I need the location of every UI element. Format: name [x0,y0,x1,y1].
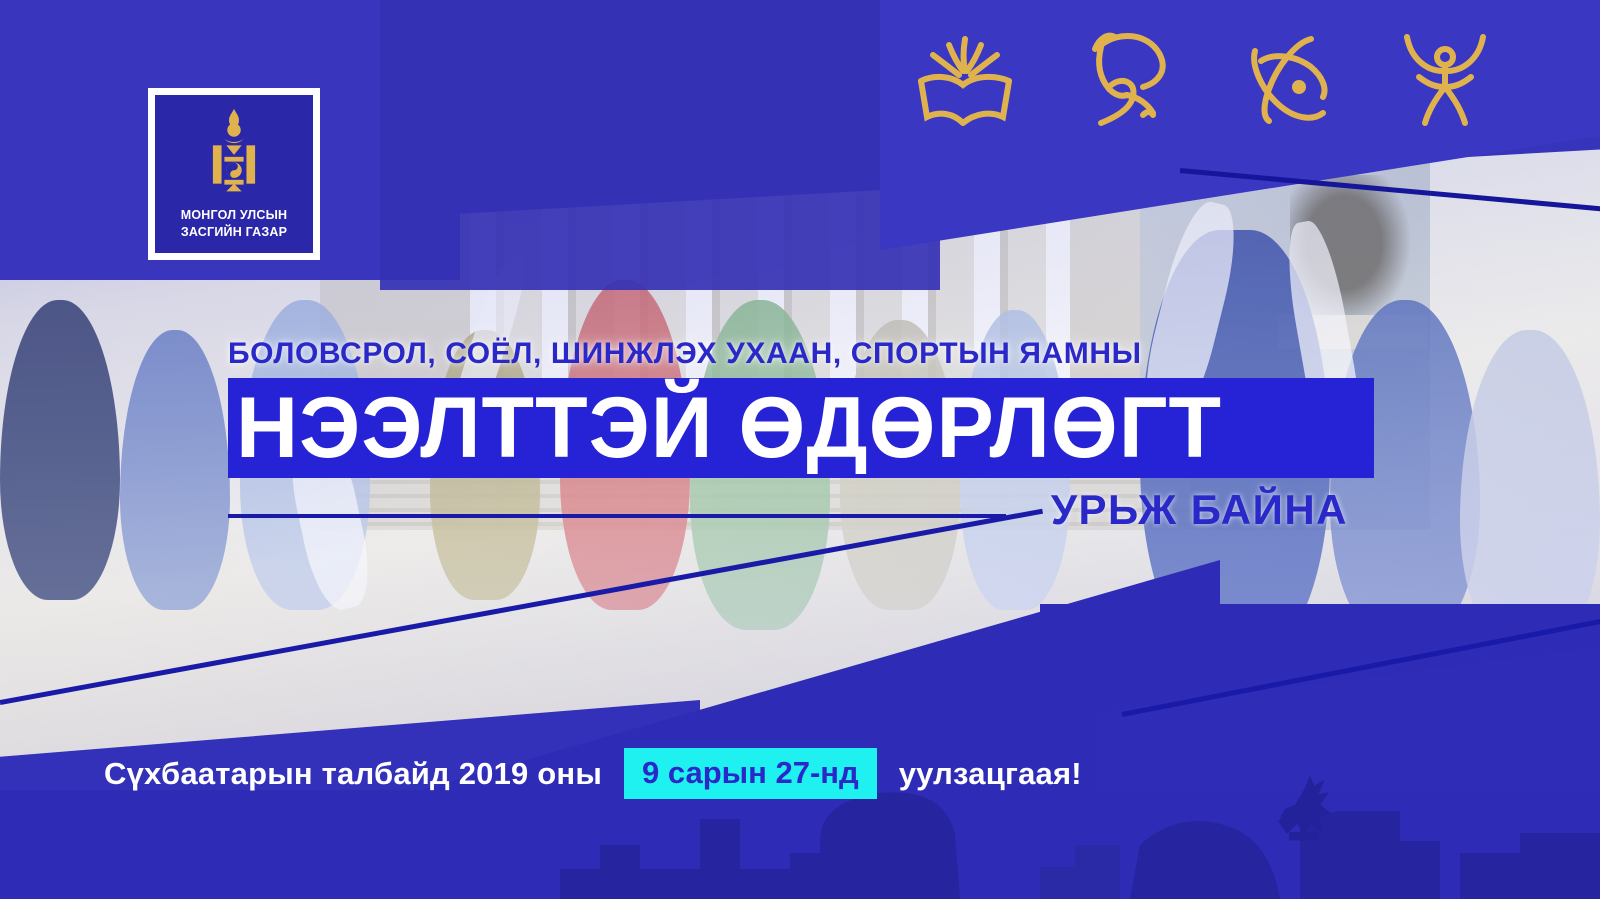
headline-underline-rule [228,514,1006,518]
event-date-chip: 9 сарын 27-нд [624,748,877,799]
eyebrow-text: БОЛОВСРОЛ, СОЁЛ, ШИНЖЛЭХ УХААН, СПОРТЫН … [228,337,1142,371]
horse-head-icon [1065,25,1185,129]
soyombo-symbol [205,107,263,199]
footer-text-before: Сүхбаатарын талбайд 2019 оны [104,756,602,792]
event-banner: МОНГОЛ УЛСЫН ЗАСГИЙН ГАЗАР [0,0,1600,899]
footer-text-after: уулзацгаая! [899,756,1082,792]
subheadline-text: УРЬЖ БАЙНА [0,486,1348,534]
ministry-sector-icons [905,22,1505,132]
open-book-icon [905,25,1025,129]
logo-line-1: МОНГОЛ УЛСЫН [181,207,288,224]
headline-text: НЭЭЛТТЭЙ ӨДӨРЛӨГТ [236,379,1376,477]
logo-line-2: ЗАСГИЙН ГАЗАР [181,224,288,241]
dancing-figure-icon [1385,25,1505,129]
government-logo: МОНГОЛ УЛСЫН ЗАСГИЙН ГАЗАР [148,88,320,260]
footer-line: Сүхбаатарын талбайд 2019 оны 9 сарын 27-… [104,748,1082,799]
atom-icon [1225,25,1345,129]
top-center-blue-block [380,0,940,290]
